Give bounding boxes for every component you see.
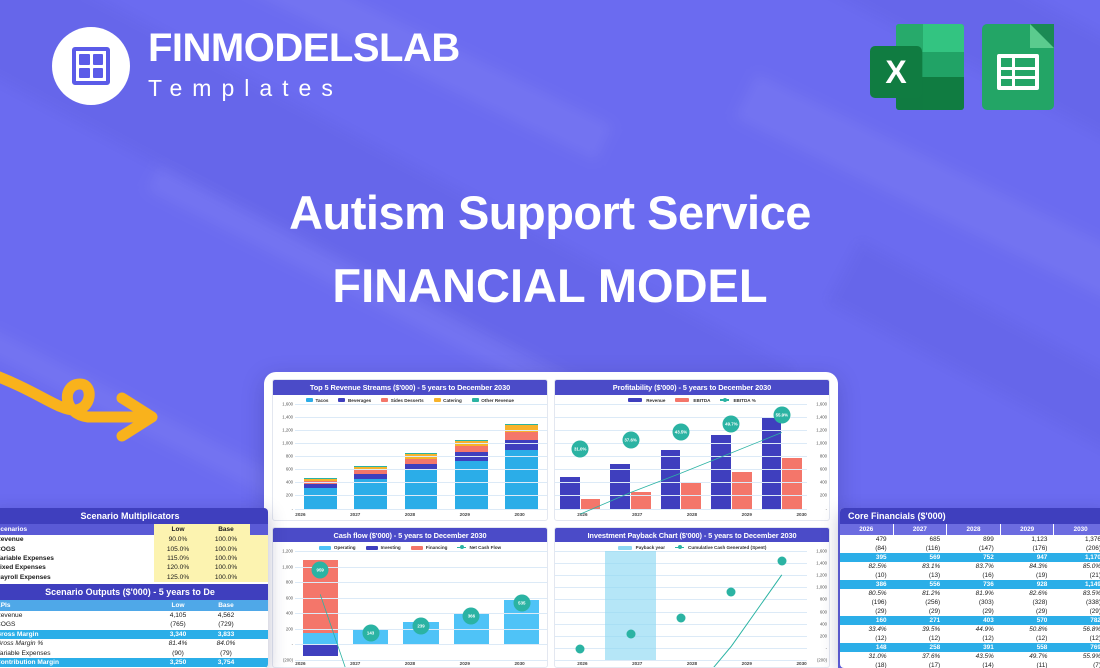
- table-row: 4796858991,1231,376: [840, 535, 1100, 544]
- curved-arrow-icon-left: [0, 362, 186, 462]
- cell-low: 120.0%: [154, 563, 202, 572]
- brand-subtitle: Templates: [148, 72, 460, 104]
- legend-label: Revenue: [646, 398, 665, 403]
- table-cell: 81.9%: [947, 589, 1001, 598]
- table-cell: (13): [894, 571, 948, 580]
- cell-base: 84.0%: [202, 639, 250, 648]
- y-tick: 1,200: [816, 427, 827, 432]
- table-cell: (12): [894, 634, 948, 643]
- y-tick: -: [292, 642, 293, 647]
- table-cell: 736: [947, 580, 1001, 589]
- plot-area: [295, 404, 547, 509]
- row-label: Payroll Expenses: [0, 573, 154, 582]
- row-label: Fixed Expenses: [0, 563, 154, 572]
- legend-label: Financing: [426, 545, 448, 550]
- x-axis: 20262027202820292030: [273, 509, 547, 520]
- bar-segment: [505, 425, 538, 432]
- table-cell: (11): [1001, 661, 1055, 668]
- table-cell: 752: [947, 553, 1001, 562]
- table-cell: (29): [1001, 607, 1055, 616]
- table-row: Contribution Margin3,2503,754: [0, 658, 268, 667]
- row-label: Gross Margin %: [0, 639, 154, 648]
- table-cell: (29): [947, 607, 1001, 616]
- table-cell: 33.4%: [840, 625, 894, 634]
- bar-segment: [505, 432, 538, 440]
- table-row: (18)(17)(14)(11)(7): [840, 661, 1100, 668]
- chart-legend: Operating Investing Financing Net Cash F…: [273, 542, 547, 551]
- data-label: 31.0%: [572, 441, 589, 458]
- y-tick: 800: [286, 454, 293, 459]
- data-point: [576, 645, 585, 654]
- kpi-header-row: KPIs Low Base: [0, 600, 268, 611]
- table-cell: 148: [840, 643, 894, 652]
- chart-title: Profitability ($'000) - 5 years to Decem…: [555, 380, 829, 395]
- cell-base: 100.0%: [202, 573, 250, 582]
- cell-base: (79): [202, 648, 250, 657]
- row-label: Variable Expenses: [0, 554, 154, 563]
- scenario-sheet[interactable]: Scenario Multiplicators Scenarios Low Ba…: [0, 508, 268, 668]
- brand-name: FINMODELSLAB: [148, 28, 460, 68]
- cell-low: 3,340: [154, 630, 202, 639]
- cell-low: 125.0%: [154, 573, 202, 582]
- row-label: Gross Margin: [0, 630, 154, 639]
- table-cell: 556: [894, 580, 948, 589]
- chart-legend: Payback year Cumulative Cash Generated (…: [555, 542, 829, 551]
- table-cell: 31.0%: [840, 652, 894, 661]
- table-cell: 84.3%: [1001, 562, 1055, 571]
- data-label: 37.6%: [622, 432, 639, 449]
- chart-title: Top 5 Revenue Streams ($'000) - 5 years …: [273, 380, 547, 395]
- table-cell: 569: [894, 553, 948, 562]
- cell-low: (765): [154, 620, 202, 629]
- excel-icon: X: [870, 24, 964, 110]
- table-cell: 271: [894, 616, 948, 625]
- table-cell: 1,123: [1001, 535, 1055, 544]
- cell-base: 4,562: [202, 611, 250, 620]
- table-cell: 83.7%: [947, 562, 1001, 571]
- core-financials-body: 4796858991,1231,376(84)(116)(147)(176)(2…: [840, 535, 1100, 668]
- x-tick: 2027: [337, 512, 373, 517]
- legend-label: Investing: [381, 545, 401, 550]
- legend-label: Operating: [334, 545, 356, 550]
- plot-area: 959143239366535: [295, 551, 547, 660]
- table-row: 31.0%37.6%43.5%49.7%55.9%: [840, 652, 1100, 661]
- table-cell: 85.0%: [1054, 562, 1100, 571]
- y-tick: 600: [820, 467, 827, 472]
- table-cell: (328): [1001, 598, 1055, 607]
- cell-base: (729): [202, 620, 250, 629]
- row-label: Variable Expenses: [0, 648, 154, 657]
- table-row: (196)(256)(303)(328)(338): [840, 598, 1100, 607]
- brand-logo: FINMODELSLAB Templates: [52, 27, 460, 105]
- chart-legend: Revenue EBITDA EBITDA %: [555, 395, 829, 404]
- data-label: 143: [362, 625, 379, 642]
- data-label: 959: [312, 561, 329, 578]
- chart-investment-payback[interactable]: Investment Payback Chart ($'000) - 5 yea…: [554, 527, 830, 668]
- table-cell: (338): [1054, 598, 1100, 607]
- year-header-row: 20262027202820292030: [840, 524, 1100, 535]
- y-tick: -: [826, 645, 827, 650]
- table-cell: (29): [840, 607, 894, 616]
- table-cell: (16): [947, 571, 1001, 580]
- bar-segment: [455, 461, 488, 509]
- legend-label: Net Cash Flow: [469, 545, 501, 550]
- y-tick: 200: [286, 493, 293, 498]
- table-row: Revenue90.0%100.0%: [0, 535, 268, 544]
- row-label: Revenue: [0, 611, 154, 620]
- y-tick: (200): [283, 658, 293, 663]
- cell-base: 3,833: [202, 630, 250, 639]
- table-cell: 82.6%: [1001, 589, 1055, 598]
- table-cell: 56.8%: [1054, 625, 1100, 634]
- table-cell: 44.9%: [947, 625, 1001, 634]
- col-header: Low: [154, 600, 202, 611]
- y-tick: 1,400: [282, 414, 293, 419]
- y-tick: 400: [286, 611, 293, 616]
- col-header: 2026: [840, 524, 894, 535]
- grid-squares-icon: [72, 47, 110, 85]
- table-row: 33.4%39.5%44.9%50.8%56.8%: [840, 625, 1100, 634]
- bar-segment: [505, 450, 538, 508]
- table-row: (12)(12)(12)(12)(12): [840, 634, 1100, 643]
- y-axis: -2004006008001,0001,2001,4001,600: [273, 404, 295, 509]
- scenario-outputs-body: Revenue4,1054,562COGS(765)(729)Gross Mar…: [0, 611, 268, 667]
- row-label: Revenue: [0, 535, 154, 544]
- table-cell: 83.1%: [894, 562, 948, 571]
- table-cell: (303): [947, 598, 1001, 607]
- logo-mark: [52, 27, 130, 105]
- data-point: [727, 588, 736, 597]
- col-header: 2027: [894, 524, 948, 535]
- x-tick: 2026: [283, 512, 319, 517]
- table-cell: 1,170: [1054, 553, 1100, 562]
- y-tick: 600: [286, 467, 293, 472]
- legend-label: EBITDA: [693, 398, 710, 403]
- table-cell: 49.7%: [1001, 652, 1055, 661]
- table-cell: (18): [840, 661, 894, 668]
- cell-low: 81.4%: [154, 639, 202, 648]
- legend-label: Sides Desserts: [391, 398, 424, 403]
- table-cell: (116): [894, 544, 948, 553]
- data-label: 535: [513, 594, 530, 611]
- plot-area: [555, 551, 807, 660]
- table-row: 3955697529471,170: [840, 553, 1100, 562]
- y-tick: 800: [286, 580, 293, 585]
- y-axis: (200)-2004006008001,0001,200: [273, 551, 295, 660]
- y-tick: 800: [820, 454, 827, 459]
- cell-low: (90): [154, 648, 202, 657]
- table-cell: 386: [840, 580, 894, 589]
- col-header: Scenarios: [0, 524, 154, 535]
- chart-top5-revenue-streams[interactable]: Top 5 Revenue Streams ($'000) - 5 years …: [272, 379, 548, 521]
- scenario-outputs-title: Scenario Outputs ($'000) - 5 years to De: [0, 584, 268, 600]
- table-row: (84)(116)(147)(176)(206): [840, 544, 1100, 553]
- google-sheets-icon: [982, 24, 1054, 110]
- table-cell: 55.9%: [1054, 652, 1100, 661]
- y-tick: 200: [820, 493, 827, 498]
- scenario-multiplicators-body: Revenue90.0%100.0%COGS105.0%100.0%Variab…: [0, 535, 268, 582]
- table-cell: (29): [1054, 607, 1100, 616]
- table-cell: 899: [947, 535, 1001, 544]
- table-cell: (21): [1054, 571, 1100, 580]
- cell-low: 90.0%: [154, 535, 202, 544]
- y-tick: 1,200: [282, 427, 293, 432]
- excel-letter: X: [885, 56, 906, 88]
- table-row: COGS105.0%100.0%: [0, 544, 268, 553]
- row-label: COGS: [0, 544, 154, 553]
- table-cell: 769: [1054, 643, 1100, 652]
- table-row: Fixed Expenses120.0%100.0%: [0, 563, 268, 572]
- chart-legend: Tacos Beverages Sides Desserts Catering …: [273, 395, 547, 404]
- table-cell: 43.5%: [947, 652, 1001, 661]
- legend-label: Payback year: [636, 545, 665, 550]
- table-cell: (29): [894, 607, 948, 616]
- cell-base: 3,754: [202, 658, 250, 667]
- bar-segment: [405, 470, 438, 508]
- plot-area: 31.0%37.6%43.5%49.7%55.9%: [555, 404, 807, 509]
- table-cell: (84): [840, 544, 894, 553]
- y-tick: 400: [286, 480, 293, 485]
- table-cell: 947: [1001, 553, 1055, 562]
- table-cell: (19): [1001, 571, 1055, 580]
- row-label: COGS: [0, 620, 154, 629]
- core-financials-sheet[interactable]: Core Financials ($'000) 2026202720282029…: [840, 508, 1100, 668]
- table-cell: 570: [1001, 616, 1055, 625]
- table-cell: (147): [947, 544, 1001, 553]
- y-tick: 400: [820, 480, 827, 485]
- table-cell: 403: [947, 616, 1001, 625]
- page-title-line2: FINANCIAL MODEL: [0, 258, 1100, 313]
- legend-label: Other Revenue: [481, 398, 514, 403]
- file-format-icons: X: [870, 24, 1054, 110]
- table-row: 160271403570782: [840, 616, 1100, 625]
- table-cell: 391: [947, 643, 1001, 652]
- data-label: 55.9%: [773, 407, 790, 424]
- table-cell: 82.5%: [840, 562, 894, 571]
- col-header: Base: [202, 524, 250, 535]
- y-axis: -2004006008001,0001,2001,4001,600: [807, 404, 829, 509]
- table-row: (10)(13)(16)(19)(21): [840, 571, 1100, 580]
- y-tick: 1,000: [282, 440, 293, 445]
- y-tick: 1,200: [816, 573, 827, 578]
- y-tick: 200: [286, 626, 293, 631]
- chart-title: Cash flow ($'000) - 5 years to December …: [273, 528, 547, 543]
- table-cell: 685: [894, 535, 948, 544]
- dashboard-preview[interactable]: Top 5 Revenue Streams ($'000) - 5 years …: [264, 372, 838, 668]
- table-row: Payroll Expenses125.0%100.0%: [0, 573, 268, 582]
- table-row: 148258391558769: [840, 643, 1100, 652]
- y-tick: -: [826, 506, 827, 511]
- table-cell: 81.2%: [894, 589, 948, 598]
- cell-base: 100.0%: [202, 544, 250, 553]
- scenario-header-row: Scenarios Low Base: [0, 524, 268, 535]
- page-title-line1: Autism Support Service: [0, 185, 1100, 240]
- table-cell: (12): [947, 634, 1001, 643]
- table-row: 80.5%81.2%81.9%82.6%83.5%: [840, 589, 1100, 598]
- table-cell: 39.5%: [894, 625, 948, 634]
- y-tick: 1,000: [816, 585, 827, 590]
- table-cell: 479: [840, 535, 894, 544]
- table-cell: (12): [1001, 634, 1055, 643]
- table-cell: 782: [1054, 616, 1100, 625]
- col-header: 2030: [1054, 524, 1100, 535]
- table-row: 82.5%83.1%83.7%84.3%85.0%: [840, 562, 1100, 571]
- y-tick: 600: [286, 595, 293, 600]
- y-tick: 1,400: [816, 561, 827, 566]
- legend-label: Beverages: [348, 398, 371, 403]
- legend-label: Cumulative Cash Generated (Spent): [688, 545, 766, 550]
- table-cell: 558: [1001, 643, 1055, 652]
- y-tick: 400: [820, 621, 827, 626]
- chart-cash-flow[interactable]: Cash flow ($'000) - 5 years to December …: [272, 527, 548, 668]
- bar-segment: [505, 440, 538, 451]
- table-cell: 83.5%: [1054, 589, 1100, 598]
- cell-base: 100.0%: [202, 563, 250, 572]
- table-cell: (12): [1054, 634, 1100, 643]
- table-cell: (10): [840, 571, 894, 580]
- col-header: Low: [154, 524, 202, 535]
- table-cell: 1,149: [1054, 580, 1100, 589]
- y-tick: -: [292, 506, 293, 511]
- y-tick: 1,200: [282, 549, 293, 554]
- col-header: KPIs: [0, 600, 154, 611]
- y-tick: 1,000: [816, 440, 827, 445]
- cell-base: 100.0%: [202, 535, 250, 544]
- y-tick: 1,600: [816, 549, 827, 554]
- table-row: Variable Expenses115.0%100.0%: [0, 554, 268, 563]
- legend-label: EBITDA %: [733, 398, 755, 403]
- table-cell: (17): [894, 661, 948, 668]
- data-label: 366: [463, 607, 480, 624]
- row-label: Contribution Margin: [0, 658, 154, 667]
- table-cell: (176): [1001, 544, 1055, 553]
- chart-title: Investment Payback Chart ($'000) - 5 yea…: [555, 528, 829, 543]
- bar-segment: [354, 479, 387, 509]
- data-point: [677, 614, 686, 623]
- table-cell: (196): [840, 598, 894, 607]
- y-tick: 1,600: [282, 401, 293, 406]
- table-row: Gross Margin %81.4%84.0%: [0, 639, 268, 648]
- y-tick: (200): [817, 658, 827, 663]
- table-cell: 37.6%: [894, 652, 948, 661]
- scenario-multiplicators-title: Scenario Multiplicators: [0, 508, 268, 524]
- table-row: 3865567369281,149: [840, 580, 1100, 589]
- data-label: 43.5%: [673, 424, 690, 441]
- table-row: Variable Expenses(90)(79): [0, 648, 268, 657]
- table-row: Gross Margin3,3403,833: [0, 630, 268, 639]
- col-header: 2029: [1001, 524, 1055, 535]
- table-cell: 160: [840, 616, 894, 625]
- cell-low: 3,250: [154, 658, 202, 667]
- table-row: Revenue4,1054,562: [0, 611, 268, 620]
- table-row: (29)(29)(29)(29)(29): [840, 607, 1100, 616]
- data-label: 239: [413, 617, 430, 634]
- table-cell: (7): [1054, 661, 1100, 668]
- table-cell: (206): [1054, 544, 1100, 553]
- data-point: [777, 557, 786, 566]
- table-cell: 1,376: [1054, 535, 1100, 544]
- table-cell: (12): [840, 634, 894, 643]
- col-header: Base: [202, 600, 250, 611]
- table-cell: 80.5%: [840, 589, 894, 598]
- cell-base: 100.0%: [202, 554, 250, 563]
- table-cell: 395: [840, 553, 894, 562]
- table-row: COGS(765)(729): [0, 620, 268, 629]
- core-financials-title: Core Financials ($'000): [840, 508, 1100, 524]
- y-axis: (200)-2004006008001,0001,2001,4001,600: [807, 551, 829, 660]
- table-cell: 258: [894, 643, 948, 652]
- table-cell: (14): [947, 661, 1001, 668]
- y-tick: 1,400: [816, 414, 827, 419]
- table-cell: 928: [1001, 580, 1055, 589]
- x-tick: 2029: [447, 512, 483, 517]
- y-tick: 600: [820, 609, 827, 614]
- legend-label: Catering: [443, 398, 462, 403]
- cell-low: 4,105: [154, 611, 202, 620]
- y-tick: 200: [820, 633, 827, 638]
- legend-label: Tacos: [316, 398, 329, 403]
- x-tick: 2028: [392, 512, 428, 517]
- bar-segment: [304, 488, 337, 509]
- x-tick: 2030: [502, 512, 538, 517]
- y-tick: 1,600: [816, 401, 827, 406]
- chart-profitability[interactable]: Profitability ($'000) - 5 years to Decem…: [554, 379, 830, 521]
- y-tick: 1,000: [282, 564, 293, 569]
- data-label: 49.7%: [723, 415, 740, 432]
- table-cell: (256): [894, 598, 948, 607]
- cell-low: 115.0%: [154, 554, 202, 563]
- y-tick: 800: [820, 597, 827, 602]
- col-header: 2028: [947, 524, 1001, 535]
- table-cell: 50.8%: [1001, 625, 1055, 634]
- cell-low: 105.0%: [154, 544, 202, 553]
- data-point: [626, 630, 635, 639]
